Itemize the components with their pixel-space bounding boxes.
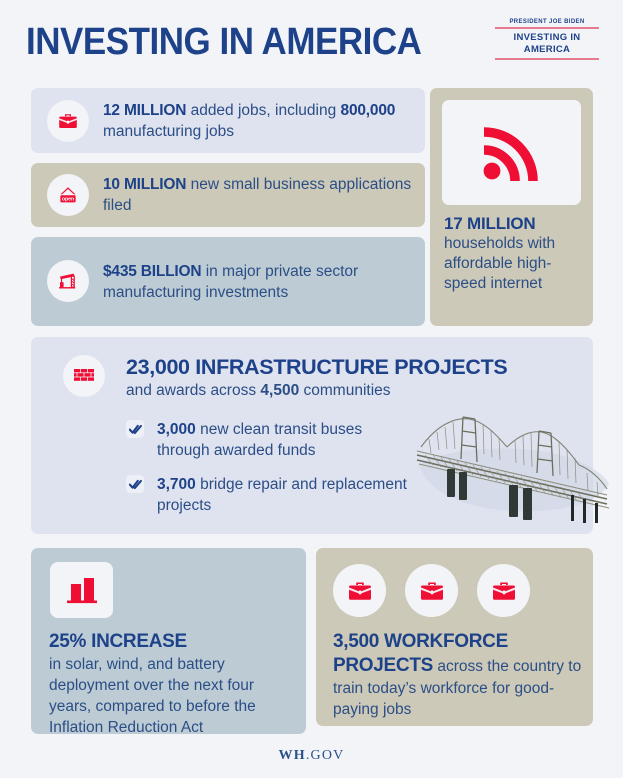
energy-headline: 25% INCREASE (49, 630, 297, 654)
page-title: INVESTING IN AMERICA (26, 20, 421, 64)
briefcase-icon (405, 564, 458, 617)
infrastructure-sub-1: and awards across (126, 382, 260, 399)
stat-text-manufacturing: $435 BILLION in major private sector man… (103, 261, 415, 303)
footer-label-bold: WH (279, 748, 306, 763)
brandmark-rule-bottom (495, 58, 599, 60)
panel-infrastructure: 23,000 INFRASTRUCTURE PROJECTS and award… (31, 337, 593, 534)
brandmark-line-1: INVESTING IN (495, 32, 599, 44)
double-check-icon (126, 420, 144, 438)
panel-internet: 17 MILLIONhouseholds with affordable hig… (430, 88, 593, 326)
panel-energy: 25% INCREASEin solar, wind, and battery … (31, 548, 306, 734)
bullet-text-2: 3,700 bridge repair and replacement proj… (127, 474, 417, 516)
internet-headline: 17 MILLION (444, 214, 586, 234)
svg-text:open: open (62, 197, 74, 203)
stat-card-jobs: 12 MILLION added jobs, including 800,000… (31, 88, 425, 153)
open-sign-icon: open (47, 174, 89, 216)
brandmark-president-line: PRESIDENT JOE BIDEN (499, 18, 595, 25)
stat-body-jobs-1: added jobs, including (186, 102, 340, 119)
brandmark-main-text: INVESTING IN AMERICA (495, 29, 599, 58)
briefcase-icon (477, 564, 530, 617)
double-check-icon (126, 475, 144, 493)
footer-wh-gov[interactable]: WH.GOV (0, 748, 623, 764)
investing-in-america-brandmark: PRESIDENT JOE BIDEN INVESTING IN AMERICA (495, 18, 599, 60)
energy-panel-text: 25% INCREASEin solar, wind, and battery … (49, 630, 297, 738)
workforce-panel-text: 3,500 WORKFORCE PROJECTS across the coun… (333, 630, 585, 720)
header: INVESTING IN AMERICA PRESIDENT JOE BIDEN… (0, 0, 623, 84)
bullet-number-1: 3,000 (157, 421, 196, 438)
stat-card-manufacturing: $435 BILLION in major private sector man… (31, 237, 425, 326)
stat-card-small-business: open 10 MILLION new small business appli… (31, 163, 425, 227)
panel-workforce: 3,500 WORKFORCE PROJECTS across the coun… (316, 548, 593, 726)
stat-highlight-jobs-2: 800,000 (341, 102, 396, 119)
internet-panel-text: 17 MILLIONhouseholds with affordable hig… (444, 214, 586, 294)
bullet-number-2: 3,700 (157, 476, 196, 493)
wifi-signal-icon (442, 100, 581, 205)
infrastructure-headline-block: 23,000 INFRASTRUCTURE PROJECTS and award… (126, 355, 576, 401)
factory-crane-icon (47, 260, 89, 302)
footer-label-rest: .GOV (306, 748, 345, 763)
stat-text-small-business: 10 MILLION new small business applicatio… (103, 174, 415, 216)
bullet-text-1: 3,000 new clean transit buses through aw… (127, 419, 417, 461)
infographic-page: INVESTING IN AMERICA PRESIDENT JOE BIDEN… (0, 0, 623, 778)
brick-wall-icon (63, 355, 105, 397)
briefcase-icon (47, 100, 89, 142)
stat-highlight-jobs: 12 MILLION (103, 102, 186, 119)
list-item: 3,700 bridge repair and replacement proj… (127, 474, 417, 516)
list-item: 3,000 new clean transit buses through aw… (127, 419, 417, 461)
stat-highlight-manufacturing: $435 BILLION (103, 263, 201, 280)
stat-body-jobs-2: manufacturing jobs (103, 123, 234, 140)
stat-highlight-small-business: 10 MILLION (103, 176, 186, 193)
energy-body: in solar, wind, and battery deployment o… (49, 656, 256, 736)
brandmark-line-2: AMERICA (495, 44, 599, 56)
infrastructure-sub-highlight: 4,500 (260, 382, 299, 399)
briefcase-icon (333, 564, 386, 617)
stat-text-jobs: 12 MILLION added jobs, including 800,000… (103, 100, 415, 142)
bar-chart-icon (50, 562, 113, 618)
suspension-bridge-illustration (411, 403, 616, 523)
infrastructure-sub-2: communities (299, 382, 390, 399)
infrastructure-headline: 23,000 INFRASTRUCTURE PROJECTS (126, 355, 576, 380)
internet-body: households with affordable high-speed in… (444, 235, 555, 292)
